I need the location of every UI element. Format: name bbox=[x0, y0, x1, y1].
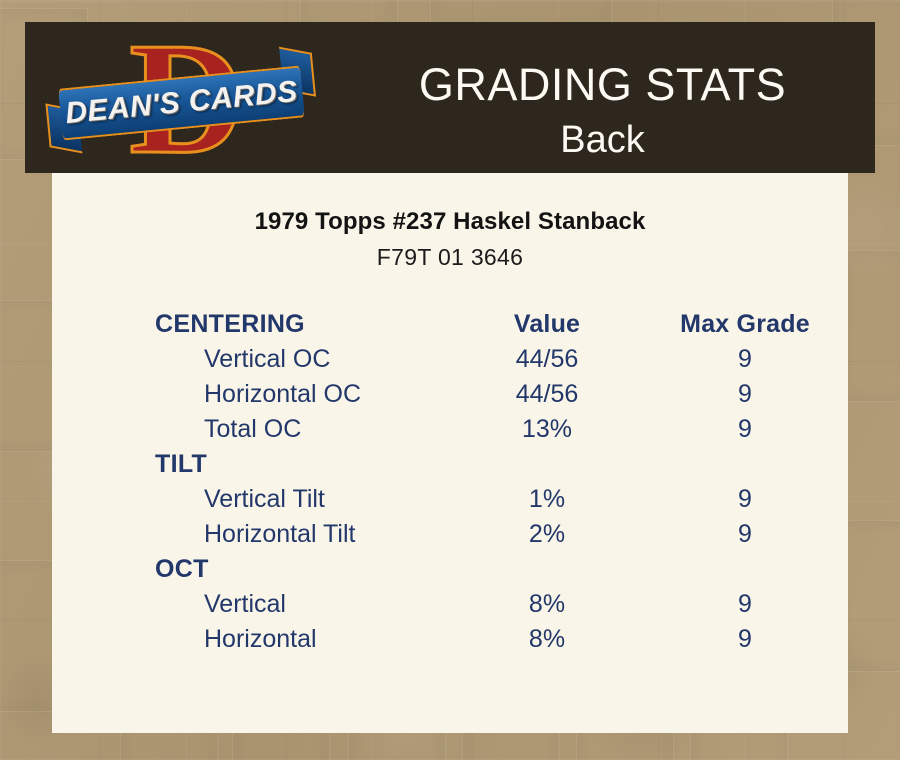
section-header-oct: OCT bbox=[52, 552, 452, 587]
stat-max-grade: 9 bbox=[642, 517, 848, 552]
stat-label: Horizontal Tilt bbox=[52, 517, 452, 552]
section-spacer-value bbox=[452, 447, 642, 482]
section-header-tilt: TILT bbox=[52, 447, 452, 482]
page-subtitle: Back bbox=[305, 118, 900, 162]
section-spacer-grade bbox=[642, 447, 848, 482]
table-row: Total OC 13% 9 bbox=[52, 412, 848, 447]
stat-value: 13% bbox=[452, 412, 642, 447]
table-row: Vertical Tilt 1% 9 bbox=[52, 482, 848, 517]
stat-max-grade: 9 bbox=[642, 482, 848, 517]
page-title: GRADING STATS bbox=[305, 59, 900, 111]
section-spacer-value bbox=[452, 552, 642, 587]
stat-value: 44/56 bbox=[452, 377, 642, 412]
column-header-value: Value bbox=[452, 307, 642, 342]
table-row: Vertical OC 44/56 9 bbox=[52, 342, 848, 377]
stat-max-grade: 9 bbox=[642, 377, 848, 412]
grading-stats-page: D DEAN'S CARDS GRADING STATS Back 1979 T… bbox=[0, 0, 900, 760]
stat-value: 8% bbox=[452, 622, 642, 657]
stat-max-grade: 9 bbox=[642, 412, 848, 447]
table-section-row: OCT bbox=[52, 552, 848, 587]
stat-label: Vertical Tilt bbox=[52, 482, 452, 517]
stat-label: Vertical OC bbox=[52, 342, 452, 377]
stat-max-grade: 9 bbox=[642, 622, 848, 657]
stat-max-grade: 9 bbox=[642, 587, 848, 622]
stat-label: Vertical bbox=[52, 587, 452, 622]
table-section-row: TILT bbox=[52, 447, 848, 482]
stat-label: Horizontal bbox=[52, 622, 452, 657]
header-bar: D DEAN'S CARDS GRADING STATS Back bbox=[25, 22, 875, 173]
stat-value: 44/56 bbox=[452, 342, 642, 377]
deans-cards-logo[interactable]: D DEAN'S CARDS bbox=[60, 30, 305, 168]
card-title: 1979 Topps #237 Haskel Stanback bbox=[52, 173, 848, 236]
stat-label: Horizontal OC bbox=[52, 377, 452, 412]
content-panel: 1979 Topps #237 Haskel Stanback F79T 01 … bbox=[52, 173, 848, 733]
card-serial-number: F79T 01 3646 bbox=[52, 236, 848, 271]
table-header-row: CENTERING Value Max Grade bbox=[52, 307, 848, 342]
stat-value: 2% bbox=[452, 517, 642, 552]
stat-label: Total OC bbox=[52, 412, 452, 447]
table-row: Horizontal OC 44/56 9 bbox=[52, 377, 848, 412]
table-row: Horizontal Tilt 2% 9 bbox=[52, 517, 848, 552]
stat-max-grade: 9 bbox=[642, 342, 848, 377]
column-header-max-grade: Max Grade bbox=[642, 307, 848, 342]
section-header-centering: CENTERING bbox=[52, 307, 452, 342]
grading-stats-table: CENTERING Value Max Grade Vertical OC 44… bbox=[52, 307, 848, 657]
stat-value: 1% bbox=[452, 482, 642, 517]
table-row: Vertical 8% 9 bbox=[52, 587, 848, 622]
table-row: Horizontal 8% 9 bbox=[52, 622, 848, 657]
stat-value: 8% bbox=[452, 587, 642, 622]
section-spacer-grade bbox=[642, 552, 848, 587]
